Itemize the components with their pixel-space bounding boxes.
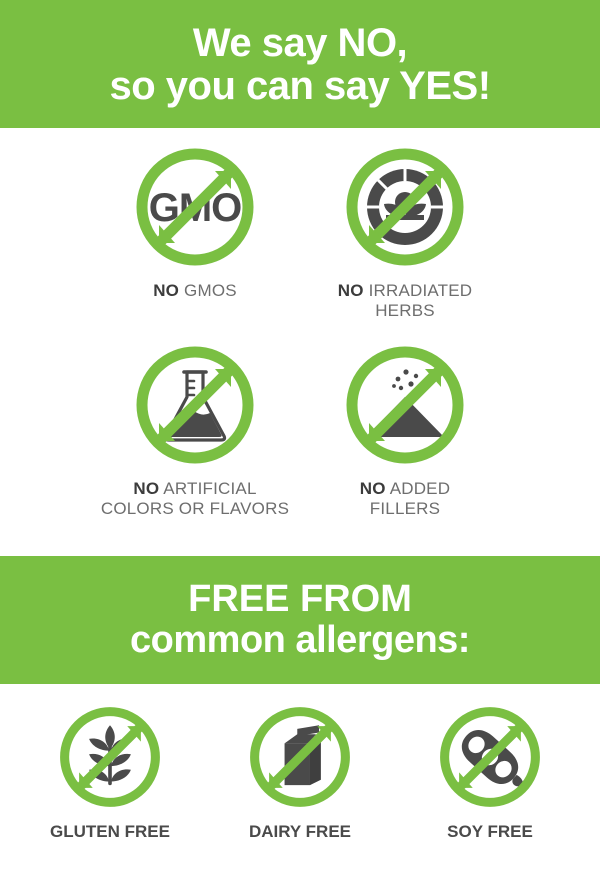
- header-banner-allergens-line-1: FREE FROM: [188, 579, 412, 620]
- allergen-label: DAIRY FREE: [249, 822, 351, 842]
- allergen-label: SOY FREE: [447, 822, 533, 842]
- allergen-label: GLUTEN FREE: [50, 822, 170, 842]
- no-items-grid: GMO NO GMOS: [0, 128, 600, 556]
- no-item-caption: NO ADDED FILLERS: [360, 479, 450, 518]
- dairy-free-carton-icon: [241, 698, 359, 816]
- no-label-line-1: GMOS: [184, 281, 237, 300]
- infographic-page: We say NO, so you can say YES! GMO NO: [0, 0, 600, 882]
- header-banner-top-line-2: so you can say YES!: [109, 65, 490, 108]
- no-label-line-2: HERBS: [375, 301, 435, 320]
- no-added-fillers-icon: [340, 340, 470, 470]
- no-label-line-1: ADDED: [390, 479, 451, 498]
- allergen-item-soy: SOY FREE: [395, 698, 585, 842]
- no-label-line-2: FILLERS: [370, 499, 440, 518]
- no-item-caption: NO ARTIFICIAL COLORS OR FLAVORS: [101, 479, 289, 518]
- no-item-caption: NO GMOS: [153, 281, 237, 301]
- no-label-line-1: ARTIFICIAL: [163, 479, 256, 498]
- no-label-line-2: COLORS OR FLAVORS: [101, 499, 289, 518]
- no-prefix: NO: [153, 281, 179, 300]
- soy-free-soybean-icon: [431, 698, 549, 816]
- no-label-line-1: IRRADIATED: [369, 281, 473, 300]
- header-banner-top-line-1: We say NO,: [193, 22, 407, 65]
- header-banner-allergens: FREE FROM common allergens:: [0, 556, 600, 684]
- no-item-added-fillers: NO ADDED FILLERS: [300, 340, 510, 518]
- no-gmo-icon: GMO: [130, 142, 260, 272]
- allergen-item-dairy: DAIRY FREE: [205, 698, 395, 842]
- allergen-free-row: GLUTEN FREE: [0, 684, 600, 882]
- no-prefix: NO: [338, 281, 364, 300]
- no-prefix: NO: [133, 479, 159, 498]
- header-banner-top: We say NO, so you can say YES!: [0, 0, 600, 128]
- no-prefix: NO: [360, 479, 386, 498]
- no-item-caption: NO IRRADIATED HERBS: [338, 281, 473, 320]
- no-item-irradiated-herbs: NO IRRADIATED HERBS: [300, 142, 510, 320]
- no-irradiated-herbs-icon: [340, 142, 470, 272]
- header-banner-allergens-line-2: common allergens:: [130, 620, 470, 661]
- no-artificial-colors-flask-icon: [130, 340, 260, 470]
- no-items-row-1: GMO NO GMOS: [0, 142, 600, 320]
- no-item-artificial-colors-flavors: NO ARTIFICIAL COLORS OR FLAVORS: [90, 340, 300, 518]
- no-item-gmos: GMO NO GMOS: [90, 142, 300, 301]
- gluten-free-wheat-icon: [51, 698, 169, 816]
- allergen-item-gluten: GLUTEN FREE: [15, 698, 205, 842]
- no-items-row-2: NO ARTIFICIAL COLORS OR FLAVORS: [0, 340, 600, 518]
